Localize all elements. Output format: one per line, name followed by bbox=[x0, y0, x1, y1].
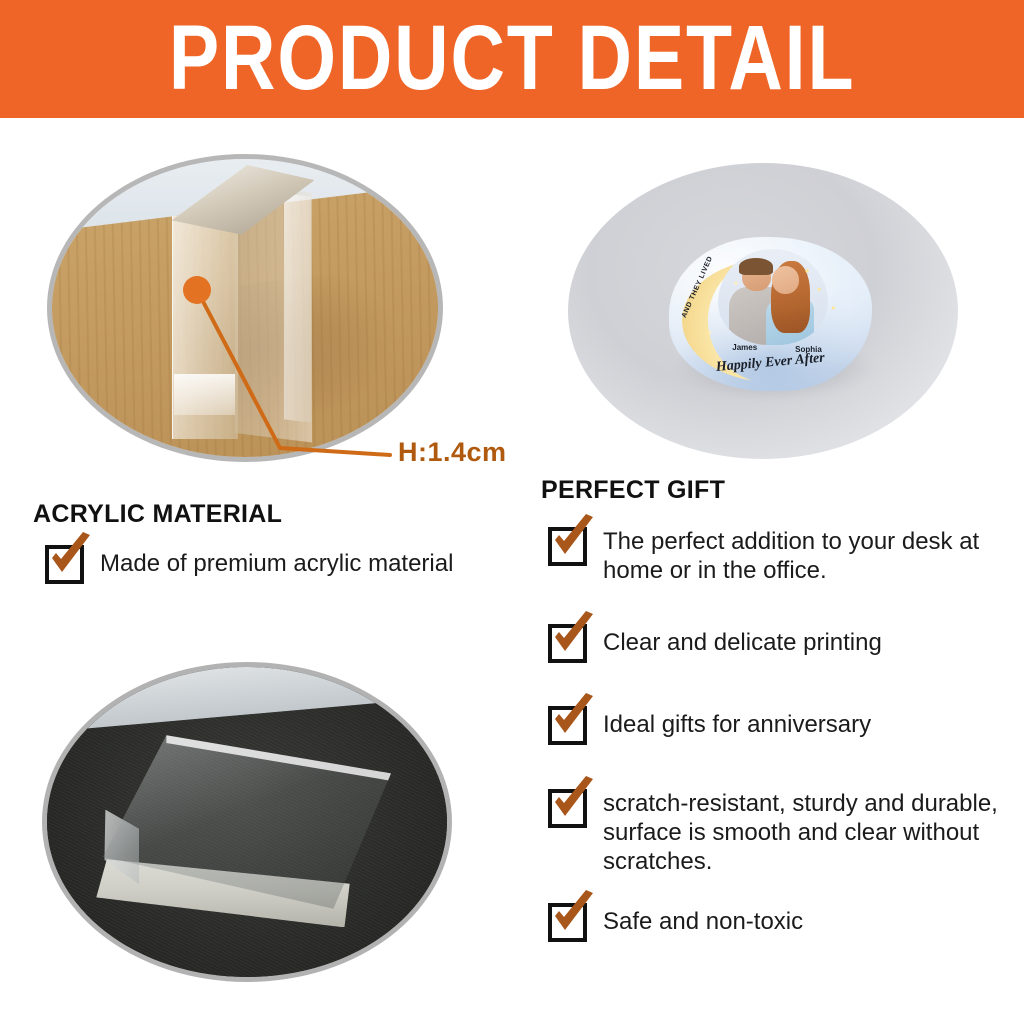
dimension-label: H:1.4cm bbox=[398, 437, 507, 468]
block-base-highlight bbox=[174, 374, 236, 416]
feature-item-anniversary-gift: Ideal gifts for anniversary bbox=[548, 706, 871, 745]
checkmark-icon bbox=[548, 611, 600, 661]
checkmark-icon bbox=[548, 776, 600, 826]
checkbox-icon bbox=[548, 706, 587, 745]
page-title: PRODUCT DETAIL bbox=[169, 13, 856, 105]
checkbox-icon bbox=[548, 527, 587, 566]
checkbox-icon bbox=[45, 545, 84, 584]
wood-scene bbox=[52, 159, 438, 457]
checkmark-icon bbox=[548, 514, 600, 564]
feature-item-desk-addition: The perfect addition to your desk at hom… bbox=[548, 527, 1023, 585]
photo-acrylic-block-on-slate bbox=[42, 662, 452, 982]
photo-acrylic-block-on-wood bbox=[47, 154, 443, 462]
feature-label: Ideal gifts for anniversary bbox=[603, 710, 871, 739]
feature-label: Safe and non-toxic bbox=[603, 907, 803, 936]
checkmark-icon bbox=[548, 890, 600, 940]
checkmark-icon bbox=[548, 693, 600, 743]
feature-item-safe-non-toxic: Safe and non-toxic bbox=[548, 903, 803, 942]
checkmark-icon bbox=[45, 532, 97, 582]
feature-item-scratch-resistant: scratch-resistant, sturdy and durable, s… bbox=[548, 789, 1023, 876]
checkbox-icon bbox=[548, 789, 587, 828]
plaque-name-left: James bbox=[732, 343, 757, 352]
checkbox-icon bbox=[548, 903, 587, 942]
header-banner: PRODUCT DETAIL bbox=[0, 0, 1024, 118]
feature-item-clear-printing: Clear and delicate printing bbox=[548, 624, 882, 663]
plaque-artwork: AND THEY LIVED James Sophia Happily Ever… bbox=[669, 237, 872, 391]
section-title-perfect-gift: PERFECT GIFT bbox=[541, 476, 725, 505]
feature-label: Clear and delicate printing bbox=[603, 628, 882, 657]
feature-label: scratch-resistant, sturdy and durable, s… bbox=[603, 789, 1023, 876]
section-title-acrylic-material: ACRYLIC MATERIAL bbox=[33, 500, 282, 529]
feature-label: Made of premium acrylic material bbox=[100, 549, 453, 578]
photo-moon-plaque: AND THEY LIVED James Sophia Happily Ever… bbox=[568, 163, 958, 459]
feature-item-acrylic: Made of premium acrylic material bbox=[45, 545, 453, 584]
block-edge-right bbox=[284, 193, 311, 423]
feature-label: The perfect addition to your desk at hom… bbox=[603, 527, 1023, 585]
checkbox-icon bbox=[548, 624, 587, 663]
